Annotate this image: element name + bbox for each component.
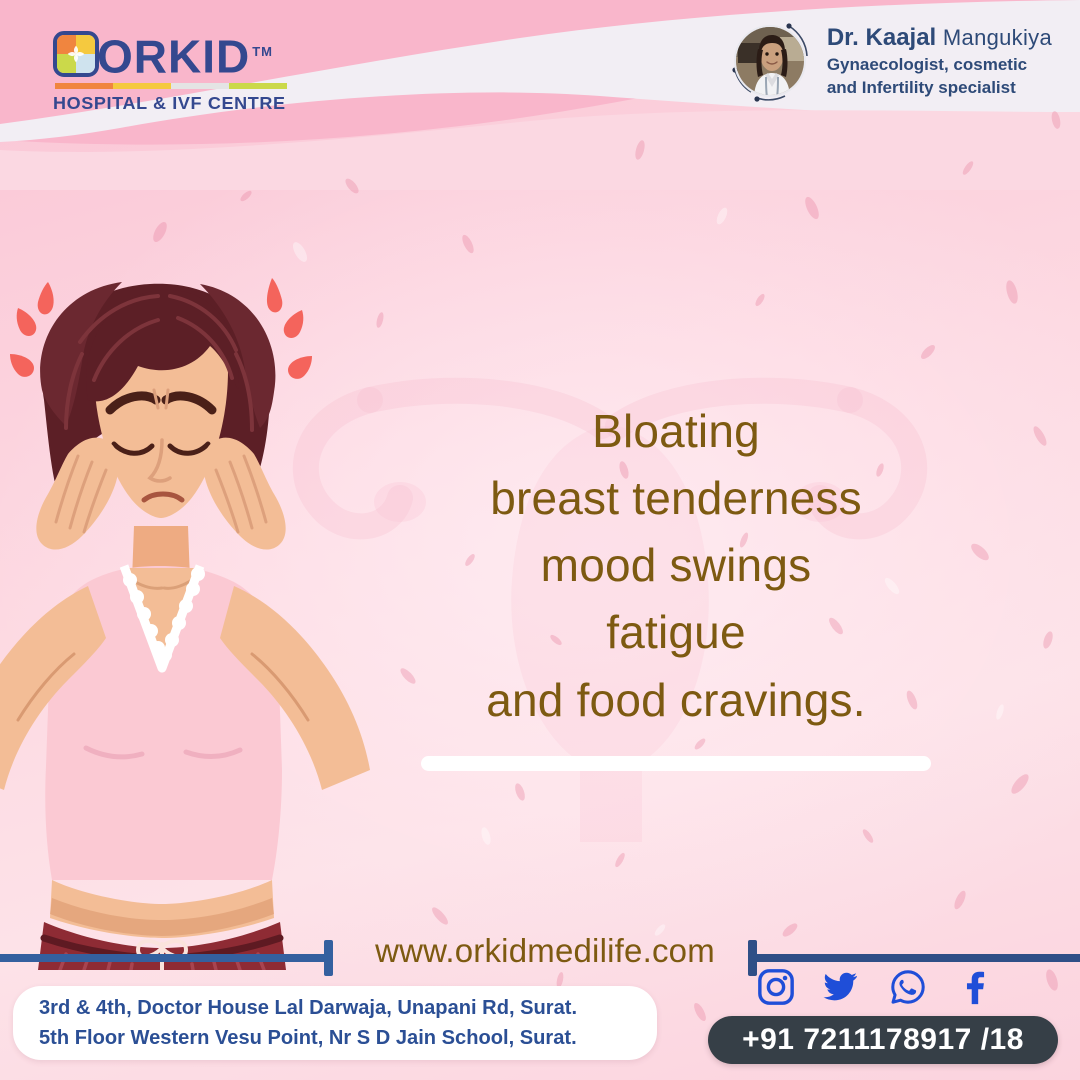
trademark-icon: TM [252,44,273,59]
doctor-photo [734,25,806,97]
doctor-name: Dr. Kaajal Mangukiya [827,24,1052,52]
doctor-badge: Dr. Kaajal Mangukiya Gynaecologist, cosm… [727,18,1052,104]
phone-number: +91 7211178917 /18 [742,1023,1024,1057]
headline-line-5: and food cravings. [420,667,932,734]
petal-icon [65,43,87,65]
whatsapp-icon[interactable] [889,968,927,1006]
woman-headache-illustration [0,250,412,970]
footer-rule-left [0,954,332,962]
address-line-1: 3rd & 4th, Doctor House Lal Darwaja, Una… [39,993,645,1023]
facebook-icon[interactable] [955,968,993,1006]
footer-rule-left-cap [324,940,333,976]
address-line-2: 5th Floor Western Vesu Point, Nr S D Jai… [39,1023,645,1053]
doctor-role-line1: Gynaecologist, cosmetic [827,54,1052,75]
brand-logo[interactable]: ORKIDTM HOSPITAL & IVF CENTRE [53,28,293,114]
doctor-name-first: Dr. Kaajal [827,24,936,51]
logo-wordmark: ORKIDTM [97,29,273,79]
orkid-square-icon [53,31,99,77]
footer-rule-right [748,954,1080,962]
logo-subtitle: HOSPITAL & IVF CENTRE [53,93,300,114]
phone-pill[interactable]: +91 7211178917 /18 [708,1016,1058,1064]
headline-line-1: Bloating [420,398,932,465]
twitter-icon[interactable] [823,968,861,1006]
headline-block: Bloating breast tenderness mood swings f… [420,398,932,734]
doctor-role-line2: and Infertility specialist [827,77,1052,98]
logo-color-bar [55,83,287,89]
headline-line-4: fatigue [420,599,932,666]
doctor-avatar [727,18,813,104]
hand-left [36,438,118,550]
hand-right [203,438,285,550]
headline-underline [421,756,931,771]
website-url[interactable]: www.orkidmedilife.com [355,932,735,970]
logo-wordmark-row: ORKIDTM [53,28,293,80]
instagram-icon[interactable] [757,968,795,1006]
footer-rule-right-cap [748,940,757,976]
poster-canvas: ORKIDTM HOSPITAL & IVF CENTRE [0,0,1080,1080]
headline-line-3: mood swings [420,532,932,599]
address-pill: 3rd & 4th, Doctor House Lal Darwaja, Una… [13,986,657,1060]
doctor-text: Dr. Kaajal Mangukiya Gynaecologist, cosm… [827,24,1052,98]
headline-line-2: breast tenderness [420,465,932,532]
doctor-name-last: Mangukiya [943,25,1052,50]
logo-word-text: ORKID [97,30,250,82]
social-icons [757,968,993,1006]
